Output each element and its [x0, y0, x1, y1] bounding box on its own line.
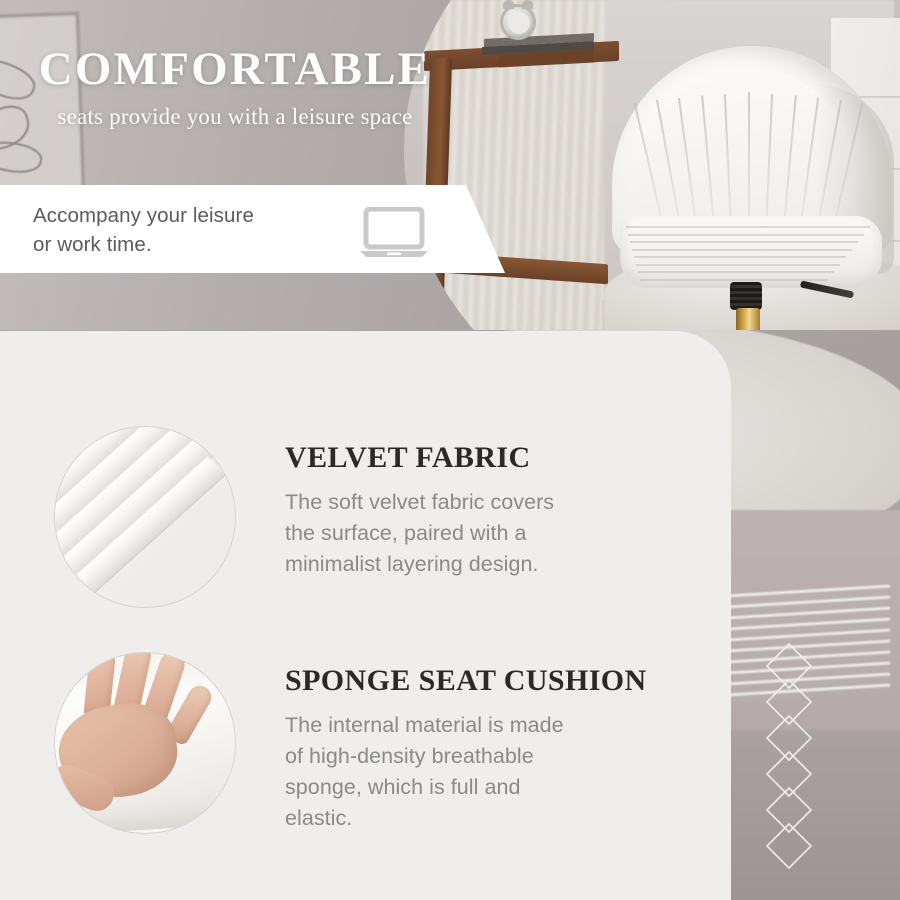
diamond-outline [767, 824, 811, 868]
feature-description-line: The soft velvet fabric covers [285, 487, 685, 518]
tagline-banner: Accompany your leisure or work time. [0, 185, 508, 273]
features-panel: VELVET FABRIC The soft velvet fabric cov… [0, 331, 731, 900]
page-title: COMFORTABLE [0, 46, 470, 93]
chair-flute [701, 96, 715, 226]
tagline-line-1: Accompany your leisure [33, 204, 254, 227]
feature-description-line: The internal material is made [285, 710, 705, 741]
tagline-text: Accompany your leisure or work time. [33, 201, 333, 259]
chair-gas-cylinder [730, 282, 762, 310]
hero-headline-block: COMFORTABLE seats provide you with a lei… [0, 46, 470, 130]
tagline-line-2: or work time. [33, 230, 333, 259]
feature-description-line: the surface, paired with a [285, 518, 685, 549]
page-subtitle: seats provide you with a leisure space [0, 104, 470, 130]
feature-description-line: minimalist layering design. [285, 549, 685, 580]
chair-flute [748, 92, 750, 232]
diamond-outline [767, 680, 811, 724]
chair-seat-channel [638, 271, 834, 273]
chair-flute [678, 98, 697, 223]
diamond-outline [767, 788, 811, 832]
feature-sponge-text: SPONGE SEAT CUSHION The internal materia… [285, 664, 705, 834]
chair-flute [765, 94, 773, 229]
chair-seat-channel [632, 249, 852, 251]
alarm-clock-icon [500, 4, 536, 40]
diamond-chain-decoration [742, 640, 836, 876]
chair-seat-channel [628, 234, 864, 236]
feature-description-line: sponge, which is full and [285, 772, 705, 803]
chair-flute [656, 100, 680, 220]
room-photo [404, 0, 900, 340]
feature-title: VELVET FABRIC [285, 441, 685, 475]
feature-description: The internal material is made of high-de… [285, 710, 705, 834]
sponge-cushion-thumbnail [55, 653, 235, 833]
feature-description: The soft velvet fabric covers the surfac… [285, 487, 685, 580]
chair-seat-channel [630, 241, 858, 243]
infographic-page: COMFORTABLE seats provide you with a lei… [0, 0, 900, 900]
chair-flute [724, 94, 732, 229]
feature-description-line: elastic. [285, 803, 705, 834]
feature-velvet-text: VELVET FABRIC The soft velvet fabric cov… [285, 441, 685, 580]
chair-seat-channel [634, 256, 846, 258]
diamond-outline [767, 752, 811, 796]
velvet-fabric-thumbnail [55, 427, 235, 607]
chair-seat [620, 216, 882, 288]
diamond-outline [767, 644, 811, 688]
office-chair [584, 46, 900, 336]
chair-seat-channel [636, 264, 840, 266]
chair-seat-channel [640, 279, 828, 281]
chair-flute [783, 96, 797, 226]
diamond-outline [767, 716, 811, 760]
feature-description-line: of high-density breathable [285, 741, 705, 772]
feature-title: SPONGE SEAT CUSHION [285, 664, 705, 698]
laptop-icon [358, 207, 430, 259]
chair-seat-channel [626, 226, 870, 228]
